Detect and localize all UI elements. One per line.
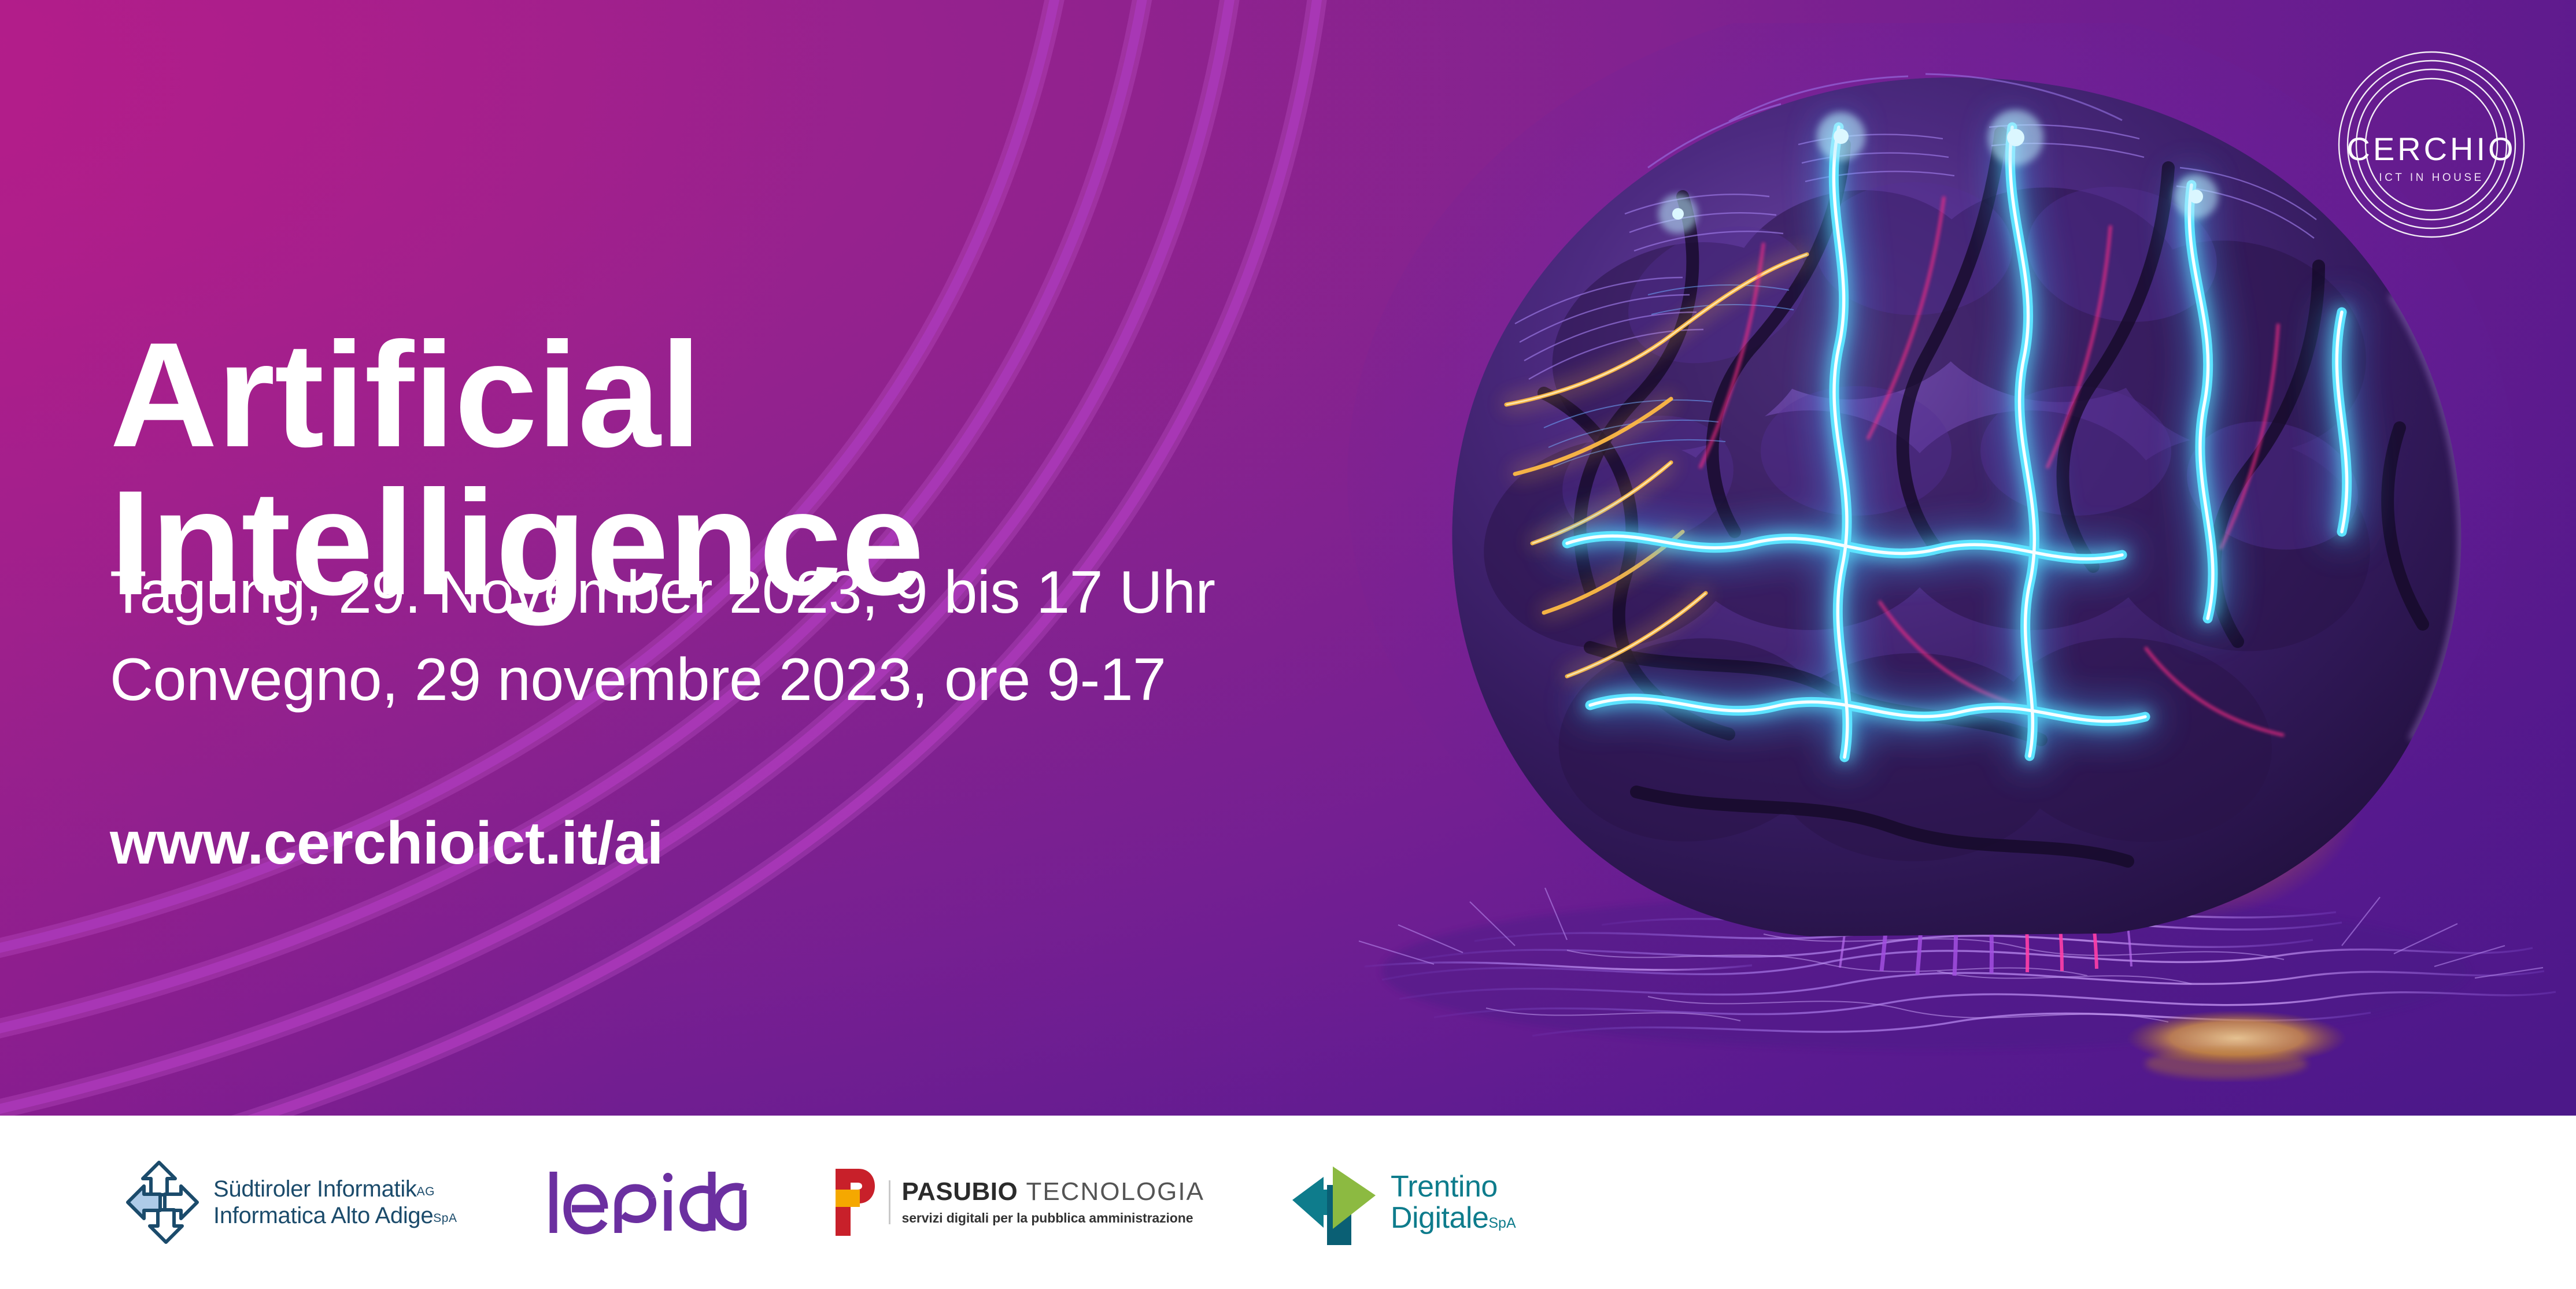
event-details: Tagung, 29. November 2023, 9 bis 17 Uhr …: [110, 549, 1215, 724]
partner-name-line-1: Trentino: [1391, 1171, 1516, 1202]
partner-name-line-2: Informatica Alto AdigeSpA: [213, 1202, 457, 1229]
partner-logo-trentino-digitale[interactable]: Trentino DigitaleSpA: [1291, 1160, 1516, 1245]
event-details-de: Tagung, 29. November 2023, 9 bis 17 Uhr: [110, 549, 1215, 636]
pasubio-p-mark-icon: [833, 1166, 877, 1238]
partner-name-line-2: DigitaleSpA: [1391, 1202, 1516, 1234]
partner-tagline: servizi digitali per la pubblica amminis…: [902, 1210, 1204, 1226]
partner-name-line-1: Südtiroler InformatikAG: [213, 1176, 457, 1202]
partner-logo-sudtiroler-informatik[interactable]: Südtiroler InformatikAG Informatica Alto…: [124, 1159, 457, 1246]
trentino-arrow-icon: [1291, 1160, 1378, 1245]
lepida-wordmark-icon: [544, 1165, 746, 1240]
event-details-it: Convegno, 29 novembre 2023, ore 9-17: [110, 636, 1215, 724]
cerchio-wordmark: CERCHIO: [2336, 133, 2527, 165]
event-url[interactable]: www.cerchioict.it/ai: [110, 809, 663, 878]
cerchio-logo: CERCHIO ICT IN HOUSE: [2336, 49, 2527, 240]
event-banner: CERCHIO ICT IN HOUSE Artificial Intellig…: [0, 0, 2576, 1289]
partner-footer: Südtiroler InformatikAG Informatica Alto…: [0, 1116, 2576, 1289]
headline-line-1: Artificial: [110, 311, 701, 478]
logo-divider: [889, 1180, 890, 1224]
partner-name: PASUBIO TECNOLOGIA: [902, 1179, 1204, 1205]
partner-logo-lepida[interactable]: [544, 1165, 746, 1240]
partner-logo-pasubio-tecnologia[interactable]: PASUBIO TECNOLOGIA servizi digitali per …: [833, 1166, 1204, 1238]
cerchio-tagline: ICT IN HOUSE: [2336, 172, 2527, 184]
pinwheel-arrows-icon: [124, 1159, 201, 1246]
